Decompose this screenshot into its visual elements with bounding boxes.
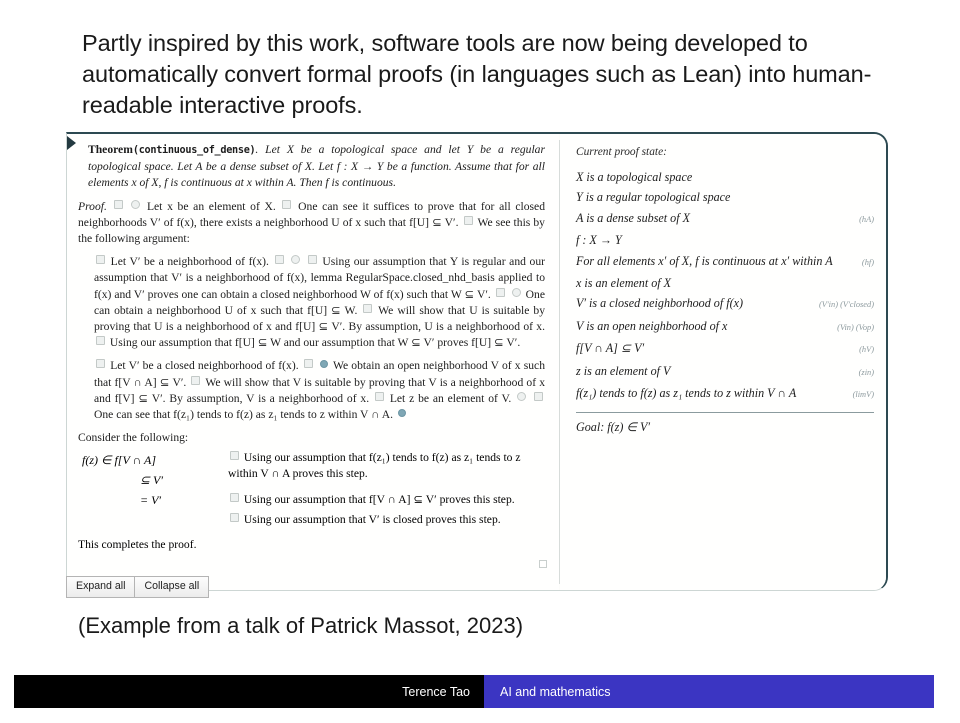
calc-right-column: Using our assumption that f(z₁) tends to… <box>228 450 545 532</box>
proof-block-1: Let V′ be a neighborhood of f(x). Using … <box>94 254 545 351</box>
calc-reason-row: Using our assumption that f[V ∩ A] ⊆ V′ … <box>228 492 545 508</box>
collapse-toggle-icon[interactable] <box>96 336 105 345</box>
collapse-toggle-icon[interactable] <box>282 200 291 209</box>
collapse-toggle-icon[interactable] <box>114 200 123 209</box>
hypothesis-row: V′ is a closed neighborhood of f(x) (V′i… <box>576 293 874 315</box>
expand-all-button[interactable]: Expand all <box>66 576 135 598</box>
hypothesis-tag: (limV) <box>846 385 874 405</box>
hypothesis-row: f[V ∩ A] ⊆ V′ (hV) <box>576 338 874 360</box>
goal-separator <box>576 412 874 413</box>
collapse-toggle-icon[interactable] <box>275 255 284 264</box>
block2-e: One can see that f(z₁) tends to f(z) as … <box>94 408 393 421</box>
hypothesis-text: x is an element of X <box>576 273 867 293</box>
collapse-toggle-icon[interactable] <box>398 409 406 417</box>
footer-topic: AI and mathematics <box>500 685 610 699</box>
hypothesis-text: f[V ∩ A] ⊆ V′ <box>576 338 852 358</box>
calc-block: f(z) ∈ f[V ∩ A] ⊆ V′ = V′ Using our assu… <box>78 450 545 532</box>
hypothesis-row: f(z₁) tends to f(z) as z₁ tends to z wit… <box>576 383 874 405</box>
theorem-label: Theorem <box>88 143 133 156</box>
hypothesis-tag: (zin) <box>852 363 874 383</box>
slide-footer: Terence Tao AI and mathematics <box>14 675 934 708</box>
proof-intro-a: Let x be an element of X. <box>147 200 276 213</box>
consider-label: Consider the following: <box>78 430 545 446</box>
calc-reason-0: Using our assumption that f(z₁) tends to… <box>228 451 521 480</box>
calc-lhs-row: = V′ <box>78 490 228 510</box>
proof-end-marker-icon <box>539 560 547 568</box>
proof-text-pane[interactable]: Theorem(continuous_of_dense). Let X be a… <box>67 134 559 590</box>
proof-state-title: Current proof state: <box>576 146 874 158</box>
proof-state-pane: Current proof state: X is a topological … <box>560 134 886 590</box>
calc-lhs-2: = V′ <box>140 493 161 507</box>
hypothesis-row: A is a dense subset of X (hA) <box>576 208 874 230</box>
hypothesis-text: V is an open neighborhood of x <box>576 316 830 336</box>
collapse-toggle-icon[interactable] <box>291 255 300 264</box>
hypothesis-list: X is a topological space Y is a regular … <box>576 167 874 405</box>
hypothesis-tag: (Vin) (Vop) <box>830 318 874 338</box>
collapse-toggle-icon[interactable] <box>464 216 473 225</box>
hypothesis-text: Y is a regular topological space <box>576 187 867 207</box>
collapse-toggle-icon[interactable] <box>320 360 328 368</box>
hypothesis-text: f : X → Y <box>576 230 867 250</box>
theorem-name: (continuous_of_dense) <box>133 145 256 156</box>
collapse-toggle-icon[interactable] <box>496 288 505 297</box>
proof-keyword: Proof. <box>78 200 107 213</box>
collapse-toggle-icon[interactable] <box>363 304 372 313</box>
hypothesis-text: z is an element of V <box>576 361 852 381</box>
theorem-marker-icon <box>67 136 76 150</box>
calc-lhs-0: f(z) ∈ f[V ∩ A] <box>82 453 156 467</box>
collapse-toggle-icon[interactable] <box>512 288 521 297</box>
collapse-toggle-icon[interactable] <box>230 513 239 522</box>
footer-author-block: Terence Tao <box>14 675 484 708</box>
calc-left-column: f(z) ∈ f[V ∩ A] ⊆ V′ = V′ <box>78 450 228 532</box>
theorem-statement: Theorem(continuous_of_dense). Let X be a… <box>78 142 545 192</box>
hypothesis-row: z is an element of V (zin) <box>576 361 874 383</box>
hypothesis-row: X is a topological space <box>576 167 874 187</box>
calc-lhs-row: ⊆ V′ <box>78 470 228 490</box>
goal-text: Goal: f(z) ∈ V′ <box>576 420 874 435</box>
hypothesis-row: Y is a regular topological space <box>576 187 874 207</box>
proof-controls-toolbar: Expand all Collapse all <box>66 576 209 598</box>
hypothesis-text: A is a dense subset of X <box>576 208 852 228</box>
footer-topic-block: AI and mathematics <box>484 675 934 708</box>
block1-e: Using our assumption that f[U] ⊆ W and o… <box>110 336 520 349</box>
proof-completion-text: This completes the proof. <box>78 538 545 551</box>
hypothesis-tag: (V′in) (V′closed) <box>812 295 874 315</box>
collapse-all-button[interactable]: Collapse all <box>135 576 209 598</box>
slide: Partly inspired by this work, software t… <box>0 0 960 723</box>
collapse-toggle-icon[interactable] <box>96 359 105 368</box>
collapse-toggle-icon[interactable] <box>96 255 105 264</box>
collapse-toggle-icon[interactable] <box>230 451 239 460</box>
calc-reason-2: Using our assumption that V′ is closed p… <box>244 513 501 526</box>
hypothesis-text: For all elements x′ of X, f is continuou… <box>576 251 855 271</box>
collapse-toggle-icon[interactable] <box>304 359 313 368</box>
hypothesis-tag: (hA) <box>852 210 874 230</box>
collapse-toggle-icon[interactable] <box>534 392 543 401</box>
hypothesis-row: For all elements x′ of X, f is continuou… <box>576 251 874 273</box>
hypothesis-row: f : X → Y <box>576 230 874 250</box>
hypothesis-row: x is an element of X <box>576 273 874 293</box>
proof-intro-paragraph: Proof. Let x be an element of X. One can… <box>78 199 545 248</box>
collapse-toggle-icon[interactable] <box>131 200 140 209</box>
calc-reason-row: Using our assumption that f(z₁) tends to… <box>228 450 545 482</box>
hypothesis-tag: (hV) <box>852 340 874 360</box>
block2-a: Let V′ be a closed neighborhood of f(x). <box>110 359 298 372</box>
collapse-toggle-icon[interactable] <box>517 392 526 401</box>
proof-block-2: Let V′ be a closed neighborhood of f(x).… <box>94 358 545 423</box>
hypothesis-text: f(z₁) tends to f(z) as z₁ tends to z wit… <box>576 383 846 403</box>
hypothesis-tag: (hf) <box>855 253 874 273</box>
hypothesis-text: V′ is a closed neighborhood of f(x) <box>576 293 812 313</box>
calc-reason-row: Using our assumption that V′ is closed p… <box>228 512 545 528</box>
slide-headline: Partly inspired by this work, software t… <box>82 28 882 121</box>
collapse-toggle-icon[interactable] <box>375 392 384 401</box>
slide-caption: (Example from a talk of Patrick Massot, … <box>78 613 523 639</box>
block1-a: Let V′ be a neighborhood of f(x). <box>111 255 269 268</box>
collapse-toggle-icon[interactable] <box>230 493 239 502</box>
calc-lhs-1: ⊆ V′ <box>140 473 163 487</box>
block2-d: Let z be an element of V. <box>390 392 511 405</box>
proof-viewer-screenshot: Theorem(continuous_of_dense). Let X be a… <box>66 132 888 591</box>
hypothesis-row: V is an open neighborhood of x (Vin) (Vo… <box>576 316 874 338</box>
calc-lhs-row: f(z) ∈ f[V ∩ A] <box>78 450 228 470</box>
collapse-toggle-icon[interactable] <box>191 376 200 385</box>
collapse-toggle-icon[interactable] <box>308 255 317 264</box>
hypothesis-text: X is a topological space <box>576 167 867 187</box>
calc-reason-1: Using our assumption that f[V ∩ A] ⊆ V′ … <box>244 493 515 506</box>
footer-author: Terence Tao <box>402 685 470 699</box>
